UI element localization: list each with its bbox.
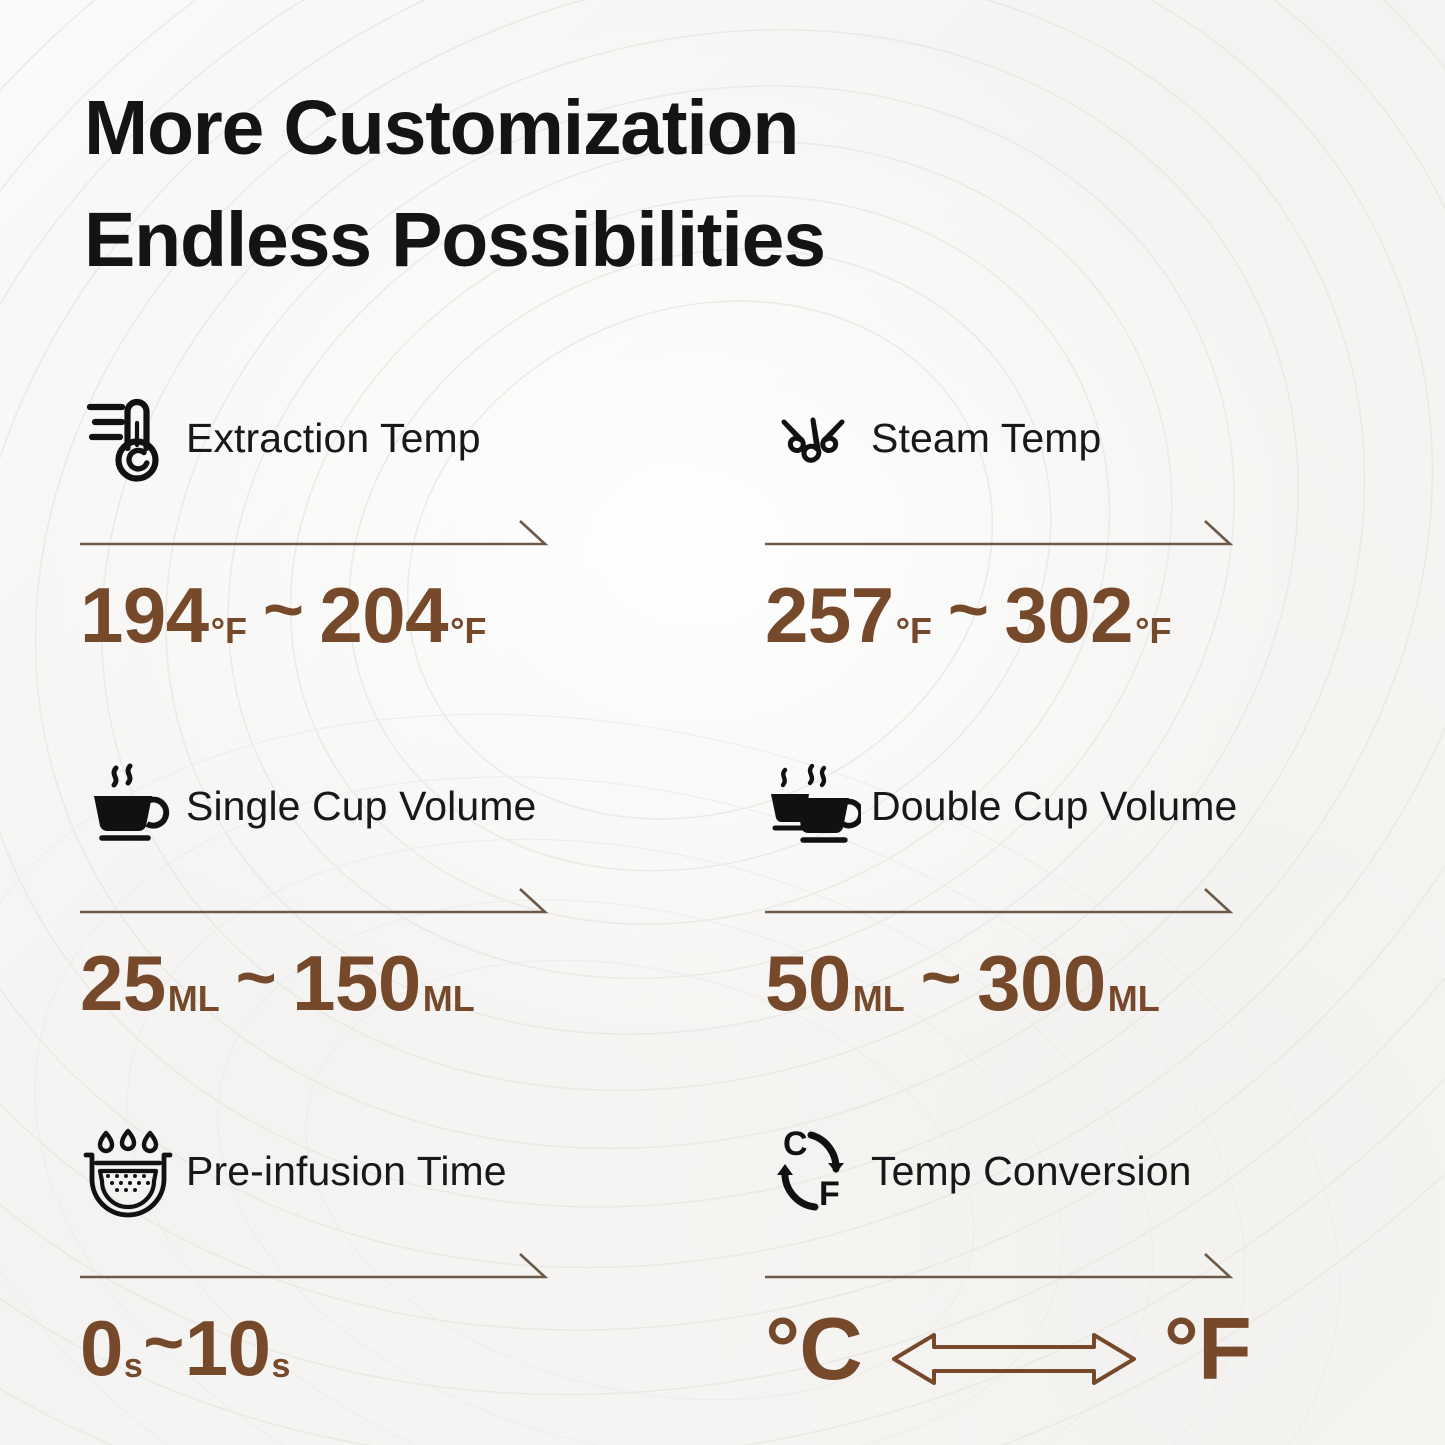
- feature-header: Extraction Temp: [80, 382, 640, 494]
- value-min-unit: s: [124, 1349, 142, 1387]
- headline-line-2: Endless Possibilities: [84, 184, 825, 296]
- value-min: 194: [80, 576, 209, 654]
- feature-title: Steam Temp: [871, 415, 1101, 462]
- feature-value: °C °F: [765, 1301, 1325, 1397]
- temp-conversion-cycle-icon: C F: [765, 1123, 861, 1219]
- feature-header: Steam Temp: [765, 382, 1325, 494]
- value-max-unit: °F: [450, 613, 486, 654]
- value-min: 257: [765, 576, 894, 654]
- feature-header: Double Cup Volume: [765, 750, 1325, 862]
- feature-cell-single-cup-volume: Single Cup Volume 25 ML ~ 150 ML: [80, 750, 640, 1022]
- svg-text:C: C: [783, 1125, 808, 1163]
- feature-header: Pre-infusion Time: [80, 1115, 640, 1227]
- feature-value: 257 °F ~ 302 °F: [765, 574, 1325, 654]
- feature-value: 50 ML ~ 300 ML: [765, 942, 1325, 1022]
- value-max-unit: ML: [423, 981, 475, 1022]
- feature-title: Temp Conversion: [871, 1148, 1192, 1195]
- range-separator: ~: [263, 574, 303, 654]
- feature-title: Double Cup Volume: [871, 783, 1237, 830]
- value-min-unit: °F: [211, 613, 247, 654]
- value-min: 0: [80, 1309, 123, 1387]
- divider-arrow: [80, 884, 547, 920]
- range-separator: ~: [143, 1307, 183, 1387]
- divider-arrow: [80, 516, 547, 552]
- feature-title: Single Cup Volume: [186, 783, 536, 830]
- feature-title: Extraction Temp: [186, 415, 481, 462]
- feature-cell-double-cup-volume: Double Cup Volume 50 ML ~ 300 ML: [765, 750, 1325, 1022]
- feature-cell-pre-infusion-time: Pre-infusion Time 0 s ~ 10 s: [80, 1115, 640, 1387]
- feature-cell-extraction-temp: Extraction Temp 194 °F ~ 204 °F: [80, 382, 640, 654]
- headline-line-1: More Customization: [84, 85, 798, 171]
- value-max: 300: [977, 944, 1106, 1022]
- feature-value: 194 °F ~ 204 °F: [80, 574, 640, 654]
- value-max: 302: [1004, 576, 1133, 654]
- feature-header: Single Cup Volume: [80, 750, 640, 862]
- thermometer-icon: [80, 390, 176, 486]
- value-min-unit: ML: [853, 981, 905, 1022]
- value-min-unit: ML: [168, 981, 220, 1022]
- divider-arrow: [765, 516, 1232, 552]
- feature-value: 25 ML ~ 150 ML: [80, 942, 640, 1022]
- conversion-unit-fahrenheit: °F: [1164, 1305, 1251, 1393]
- range-separator: ~: [236, 942, 276, 1022]
- feature-title: Pre-infusion Time: [186, 1148, 507, 1195]
- value-max: 204: [319, 576, 448, 654]
- feature-header: C F Temp Conversion: [765, 1115, 1325, 1227]
- range-separator: ~: [921, 942, 961, 1022]
- value-max-unit: °F: [1135, 613, 1171, 654]
- single-coffee-cup-icon: [80, 758, 176, 854]
- range-separator: ~: [948, 574, 988, 654]
- feature-value: 0 s ~ 10 s: [80, 1307, 640, 1387]
- double-coffee-cup-icon: [765, 758, 861, 854]
- value-max-unit: ML: [1108, 981, 1160, 1022]
- divider-arrow: [80, 1249, 547, 1285]
- double-headed-arrow-icon: [888, 1301, 1138, 1397]
- conversion-unit-celsius: °C: [765, 1305, 862, 1393]
- value-max: 10: [185, 1309, 271, 1387]
- page-title: More Customization Endless Possibilities: [84, 72, 825, 297]
- divider-arrow: [765, 1249, 1232, 1285]
- portafilter-basket-icon: [80, 1123, 176, 1219]
- value-max-unit: s: [271, 1349, 289, 1387]
- infographic-page: More Customization Endless Possibilities: [0, 0, 1445, 1445]
- value-min-unit: °F: [896, 613, 932, 654]
- divider-arrow: [765, 884, 1232, 920]
- value-max: 150: [292, 944, 421, 1022]
- value-min: 50: [765, 944, 851, 1022]
- value-min: 25: [80, 944, 166, 1022]
- feature-cell-temp-conversion: C F Temp Conversion °C: [765, 1115, 1325, 1397]
- feature-cell-steam-temp: Steam Temp 257 °F ~ 302 °F: [765, 382, 1325, 654]
- svg-text:F: F: [819, 1175, 840, 1213]
- steam-jets-icon: [765, 390, 861, 486]
